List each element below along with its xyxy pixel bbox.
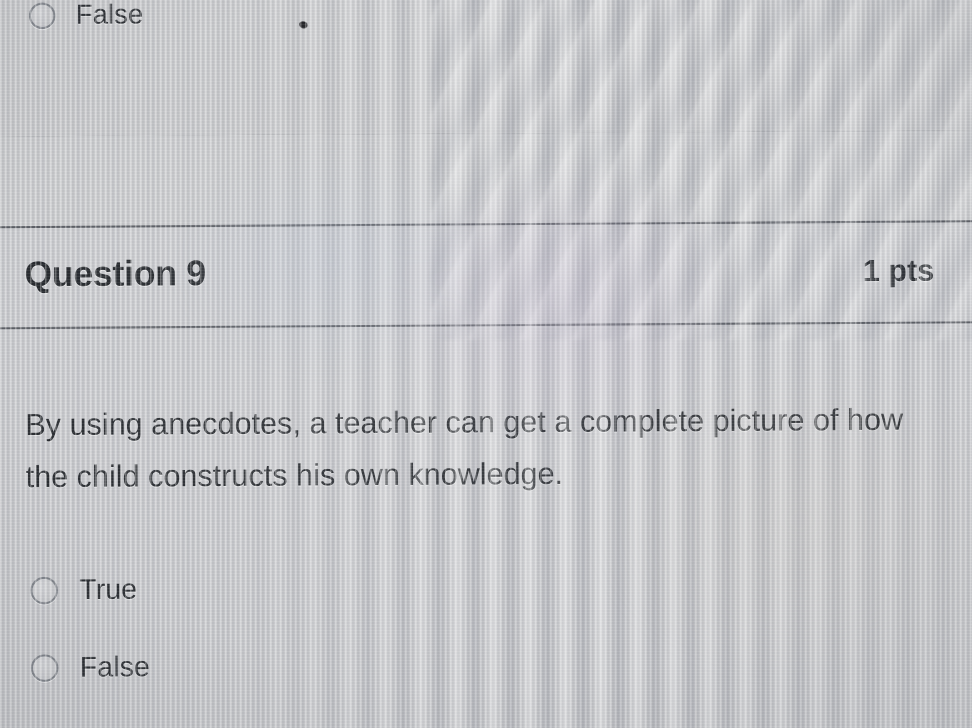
answer-options-list: True False bbox=[30, 570, 150, 726]
question-title: Question 9 bbox=[24, 254, 206, 296]
radio-unchecked-icon[interactable] bbox=[29, 2, 56, 29]
answer-option-label: False bbox=[80, 651, 150, 684]
answer-option-label: True bbox=[79, 573, 137, 606]
question-points: 1 pts bbox=[863, 254, 935, 289]
previous-question-option-label: False bbox=[76, 0, 144, 31]
question-card-gap bbox=[0, 130, 972, 226]
quiz-page: False Question 9 1 pts By using anecdote… bbox=[0, 0, 972, 728]
previous-question-answer-block: False bbox=[0, 0, 972, 139]
screen-dust-speck bbox=[299, 21, 307, 28]
radio-unchecked-icon[interactable] bbox=[31, 654, 59, 682]
previous-question-option-false[interactable]: False bbox=[29, 0, 143, 31]
answer-option-true[interactable]: True bbox=[30, 570, 149, 609]
question-header: Question 9 1 pts bbox=[0, 222, 972, 329]
radio-unchecked-icon[interactable] bbox=[30, 576, 58, 604]
question-card: Question 9 1 pts By using anecdotes, a t… bbox=[0, 220, 972, 728]
quiz-screenshot: False Question 9 1 pts By using anecdote… bbox=[0, 0, 972, 728]
answer-option-false[interactable]: False bbox=[31, 648, 150, 687]
question-body: By using anecdotes, a teacher can get a … bbox=[25, 394, 933, 504]
question-text: By using anecdotes, a teacher can get a … bbox=[25, 394, 923, 504]
